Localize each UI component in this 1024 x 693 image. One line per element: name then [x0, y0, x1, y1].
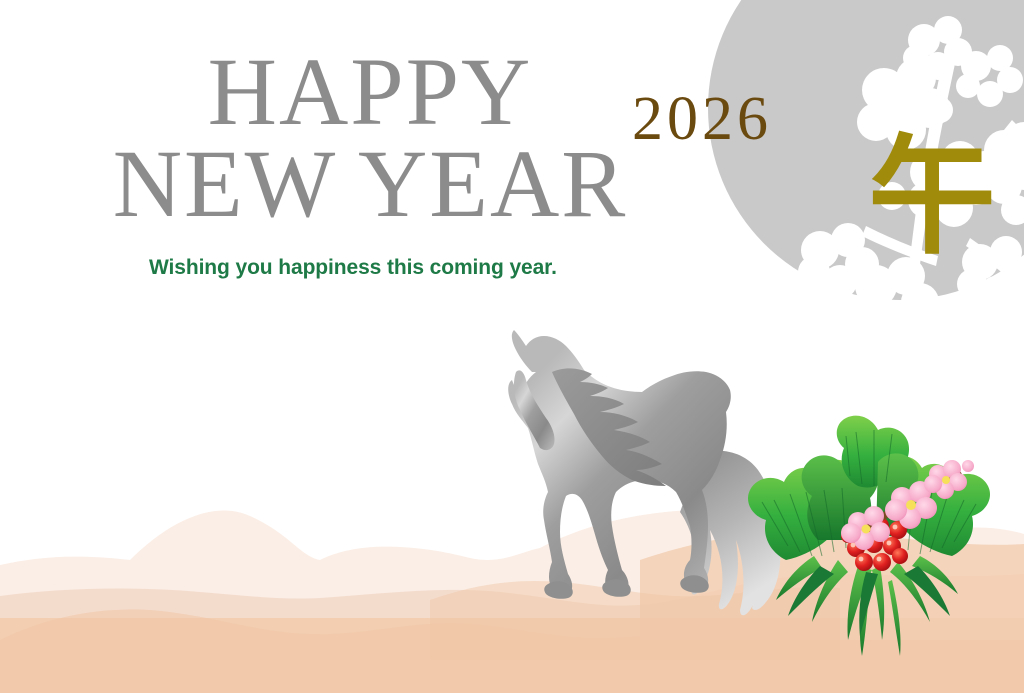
- pine-new-year-decoration: [0, 0, 1024, 693]
- new-year-greeting-card: HAPPY NEW YEAR Wishing you happiness thi…: [0, 0, 1024, 693]
- pine-leaf-accents: [788, 566, 950, 636]
- year-label: 2026: [632, 84, 772, 155]
- zodiac-kanji-horse: 午: [866, 133, 998, 261]
- plum-bud: [962, 460, 974, 472]
- greeting-subtitle: Wishing you happiness this coming year.: [149, 256, 557, 280]
